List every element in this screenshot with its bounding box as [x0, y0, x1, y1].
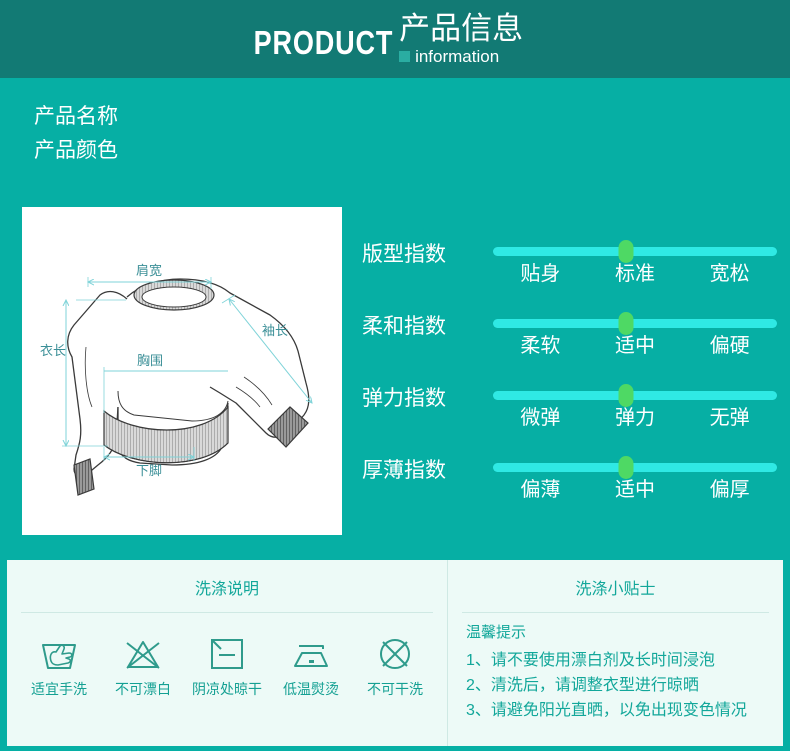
slider-thumb-elasticity[interactable]: [619, 384, 634, 407]
slider-thumb-fit[interactable]: [619, 240, 634, 263]
tips-section-title: 洗涤小贴士: [448, 560, 783, 598]
header-product-word: PRODUCT: [254, 26, 394, 65]
care-label-low-temp-iron: 低温熨烫: [283, 682, 339, 696]
tips-line-1: 1、请不要使用漂白剂及长时间浸泡: [466, 648, 783, 673]
garment-diagram-card: 肩宽 衣长 胸围 袖长 下脚: [22, 207, 342, 535]
slider-ticks-elasticity: 微弹 弹力 无弹: [493, 406, 777, 430]
care-item-low-temp-iron: 低温熨烫: [269, 631, 353, 696]
tick-thickness-0: 偏薄: [493, 478, 588, 502]
tips-line-2: 2、清洗后，请调整衣型进行晾晒: [466, 673, 783, 698]
care-item-no-dry-clean: 不可干洗: [353, 631, 437, 696]
slider-ticks-softness: 柔软 适中 偏硬: [493, 334, 777, 358]
label-chest: 胸围: [137, 353, 163, 368]
tick-fit-0: 贴身: [493, 262, 588, 286]
care-item-hand-wash: 适宜手洗: [17, 631, 101, 696]
garment-diagram-svg: 肩宽 衣长 胸围 袖长 下脚: [22, 207, 342, 535]
care-label-no-bleach: 不可漂白: [115, 682, 171, 696]
tick-fit-2: 宽松: [682, 262, 777, 286]
slider-ticks-thickness: 偏薄 适中 偏厚: [493, 478, 777, 502]
tips-line-3: 3、请避免阳光直晒，以免出现变色情况: [466, 698, 783, 723]
label-length: 衣长: [40, 343, 66, 358]
header-title-group: PRODUCT 产品信息 information: [223, 13, 523, 65]
header-subtitle-row: information: [399, 48, 499, 65]
index-row-softness: 柔和指数 柔软 适中 偏硬: [362, 308, 777, 380]
tick-thickness-1: 适中: [588, 478, 683, 502]
slider-elasticity[interactable]: 微弹 弹力 无弹: [493, 380, 777, 430]
product-color-label: 产品颜色: [34, 134, 118, 168]
index-row-thickness: 厚薄指数 偏薄 适中 偏厚: [362, 452, 777, 524]
washing-tips-section: 洗涤小贴士 温馨提示 1、请不要使用漂白剂及长时间浸泡 2、清洗后，请调整衣型进…: [447, 560, 783, 746]
no-bleach-icon: [120, 631, 166, 675]
index-row-fit: 版型指数 贴身 标准 宽松: [362, 236, 777, 308]
care-label-no-dry-clean: 不可干洗: [367, 682, 423, 696]
label-sleeve: 袖长: [262, 323, 288, 338]
slider-track-elasticity[interactable]: [493, 391, 777, 400]
index-row-elasticity: 弹力指数 微弹 弹力 无弹: [362, 380, 777, 452]
label-shoulder: 肩宽: [136, 263, 162, 278]
slider-softness[interactable]: 柔软 适中 偏硬: [493, 308, 777, 358]
care-item-no-bleach: 不可漂白: [101, 631, 185, 696]
header-subtitle: information: [415, 48, 499, 65]
no-dry-clean-icon: [372, 631, 418, 675]
slider-track-softness[interactable]: [493, 319, 777, 328]
product-name-label: 产品名称: [34, 100, 118, 134]
label-hem: 下脚: [136, 463, 162, 478]
hand-wash-icon: [36, 631, 82, 675]
tick-elasticity-2: 无弹: [682, 406, 777, 430]
care-label-hand-wash: 适宜手洗: [31, 682, 87, 696]
tick-thickness-2: 偏厚: [682, 478, 777, 502]
index-label-softness: 柔和指数: [362, 316, 446, 337]
square-bullet-icon: [399, 51, 410, 62]
care-icons-row: 适宜手洗 不可漂白 阴凉处晾干: [7, 613, 447, 696]
tips-body: 温馨提示 1、请不要使用漂白剂及长时间浸泡 2、清洗后，请调整衣型进行晾晒 3、…: [448, 613, 783, 723]
care-label-dry-in-shade: 阴凉处晾干: [192, 682, 262, 696]
slider-thumb-thickness[interactable]: [619, 456, 634, 479]
dry-in-shade-icon: [204, 631, 250, 675]
product-meta-block: 产品名称 产品颜色: [34, 100, 118, 168]
page-header: PRODUCT 产品信息 information: [0, 0, 790, 78]
slider-thumb-softness[interactable]: [619, 312, 634, 335]
tick-softness-1: 适中: [588, 334, 683, 358]
tick-elasticity-1: 弹力: [588, 406, 683, 430]
index-label-elasticity: 弹力指数: [362, 388, 446, 409]
slider-ticks-fit: 贴身 标准 宽松: [493, 262, 777, 286]
header-title-stack: 产品信息 information: [399, 13, 523, 65]
care-section-title: 洗涤说明: [7, 560, 447, 598]
tips-heading: 温馨提示: [466, 625, 783, 640]
care-instructions-section: 洗涤说明 适宜手洗 不可漂白: [7, 560, 447, 746]
slider-fit[interactable]: 贴身 标准 宽松: [493, 236, 777, 286]
care-item-dry-in-shade: 阴凉处晾干: [185, 631, 269, 696]
tick-fit-1: 标准: [588, 262, 683, 286]
low-temp-iron-icon: [288, 631, 334, 675]
index-label-thickness: 厚薄指数: [362, 460, 446, 481]
page-title: 产品信息: [399, 13, 523, 46]
tick-softness-0: 柔软: [493, 334, 588, 358]
slider-track-fit[interactable]: [493, 247, 777, 256]
slider-track-thickness[interactable]: [493, 463, 777, 472]
index-label-fit: 版型指数: [362, 244, 446, 265]
slider-thickness[interactable]: 偏薄 适中 偏厚: [493, 452, 777, 502]
index-panel: 版型指数 贴身 标准 宽松 柔和指数 柔软 适中 偏硬 弹力指数: [362, 236, 777, 524]
bottom-panel: 洗涤说明 适宜手洗 不可漂白: [7, 560, 783, 746]
tick-softness-2: 偏硬: [682, 334, 777, 358]
tick-elasticity-0: 微弹: [493, 406, 588, 430]
